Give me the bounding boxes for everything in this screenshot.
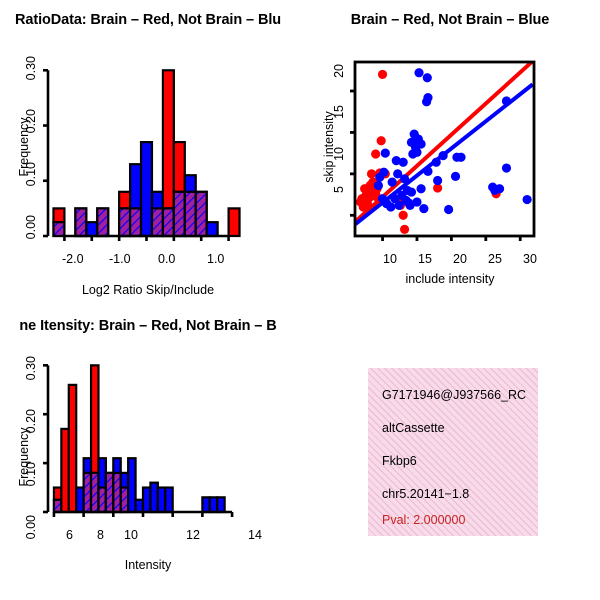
intensity-histogram-bars	[54, 365, 225, 512]
ratio-histogram-panel: RatioData: Brain – Red, Not Brain – Blu …	[0, 0, 300, 300]
gene-symbol-text: Fkbp6	[382, 454, 417, 468]
pvalue-text: Pval: 2.000000	[382, 513, 465, 527]
intensity-histogram-panel: ne Itensity: Brain – Red, Not Brain – B …	[0, 300, 300, 600]
annotation-box: G7171946@J937566_RC altCassette Fkbp6 ch…	[368, 368, 538, 536]
event-type-text: altCassette	[382, 421, 445, 435]
info-panel: G7171946@J937566_RC altCassette Fkbp6 ch…	[300, 300, 600, 600]
ratio-histogram-bars	[53, 70, 239, 236]
scatter-plot-area	[355, 61, 533, 234]
intensity-histogram-canvas	[0, 300, 300, 600]
ratio-histogram-canvas	[0, 0, 300, 300]
locus-text: chr5.20141−1.8	[382, 487, 469, 501]
probe-id-text: G7171946@J937566_RC	[382, 388, 526, 402]
scatter-panel: Brain – Red, Not Brain – Blue skip inten…	[300, 0, 600, 300]
scatter-canvas	[300, 0, 600, 300]
